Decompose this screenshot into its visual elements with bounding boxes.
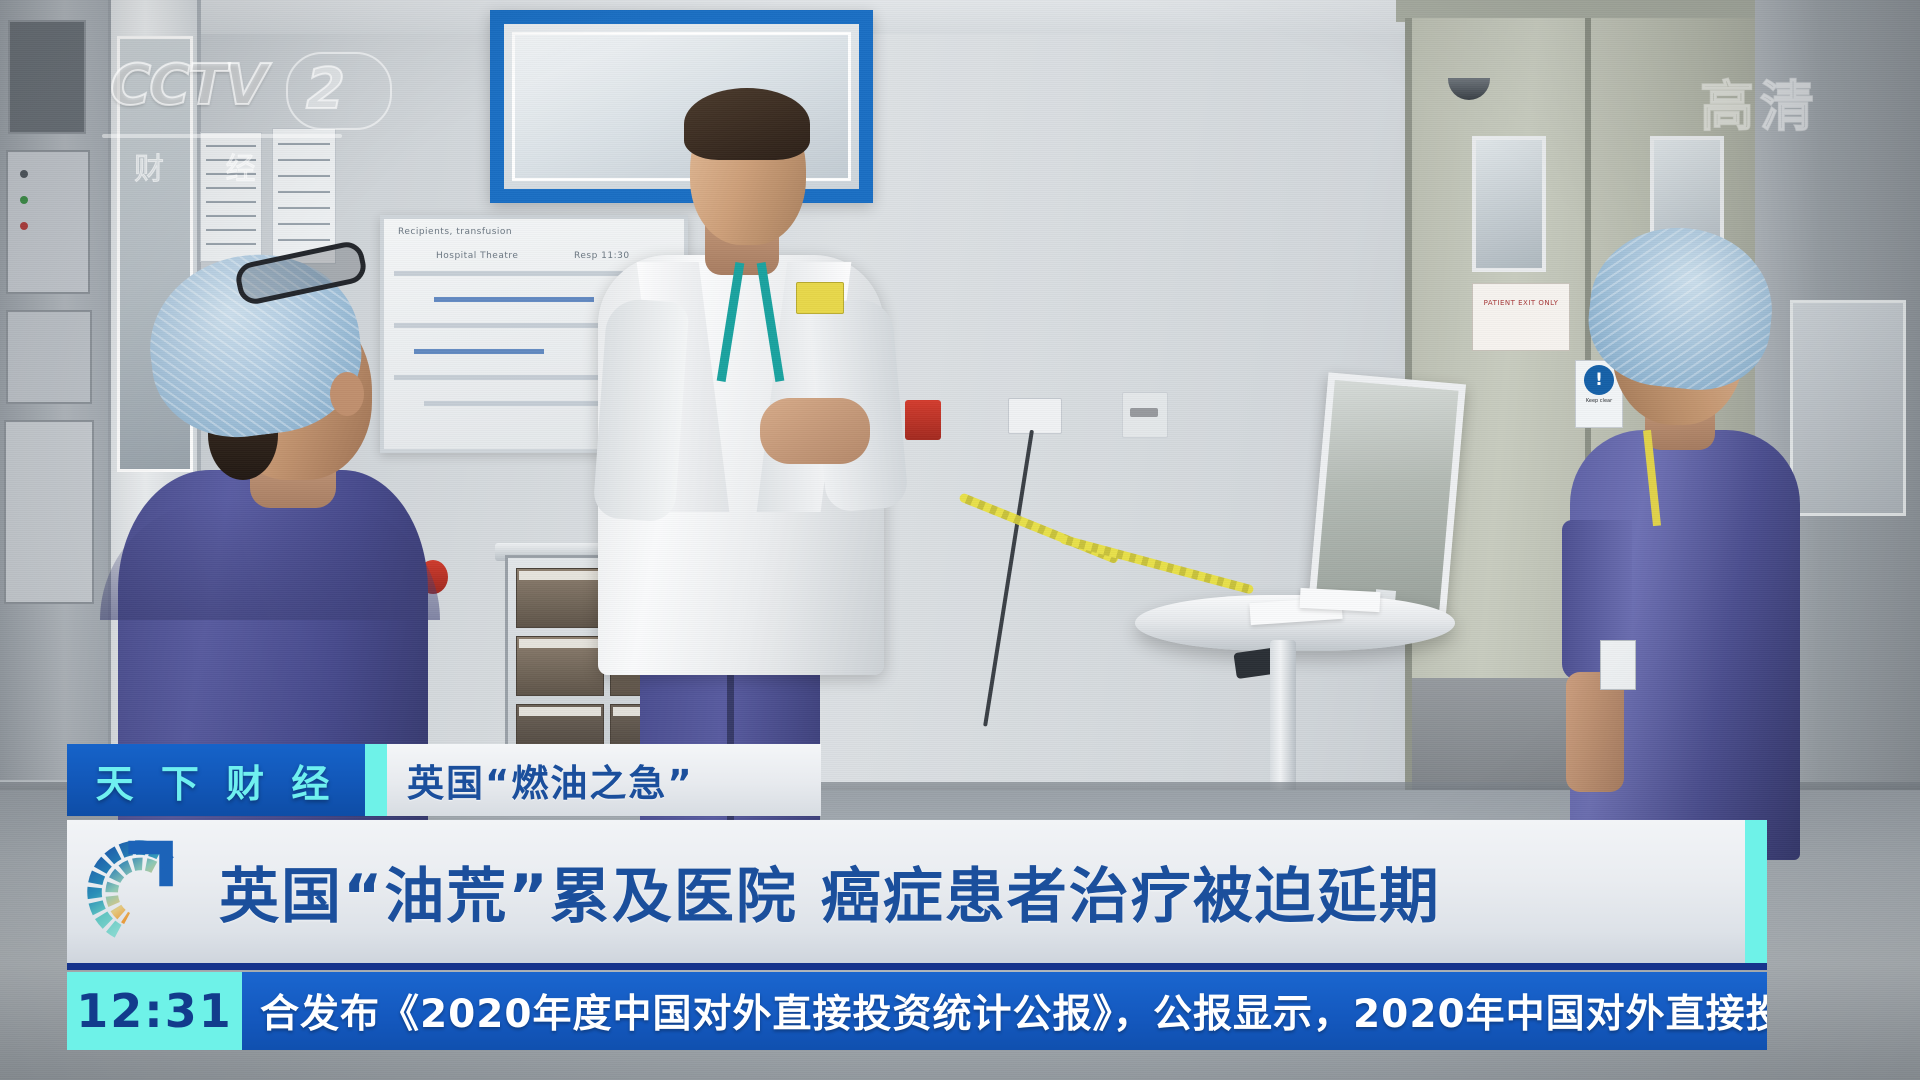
- cctv-finance-logo: [81, 834, 197, 950]
- panel-unit-mid: [6, 310, 92, 404]
- id-badge: [1600, 640, 1636, 690]
- wall-poster: [272, 128, 336, 264]
- clock-box: 12:31: [67, 972, 242, 1050]
- clock-time: 12:31: [76, 984, 232, 1038]
- wall-poster: [200, 132, 262, 262]
- program-name-label: 天 下 财 经: [96, 753, 337, 808]
- whiteboard-row-1: Hospital Theatre: [436, 251, 518, 261]
- broadcast-frame: Recipients, transfusion Hospital Theatre…: [0, 0, 1920, 1080]
- headline-text: 英国“油荒”累及医院 癌症患者治疗被迫延期: [219, 848, 1441, 935]
- headline-bar: 英国“油荒”累及医院 癌症患者治疗被迫延期: [67, 820, 1767, 970]
- panel-display: [8, 20, 86, 134]
- program-topic-row: 天 下 财 经 英国“燃油之急”: [67, 744, 1767, 816]
- tag-accent-strip: [365, 744, 387, 816]
- panel-unit-upper: [6, 150, 90, 294]
- id-badge: [796, 282, 844, 314]
- whiteboard-row-2: Resp 11:30: [574, 251, 630, 261]
- ticker-body: 合发布《2020年度中国对外直接投资统计公报》，公报显示，2020年中国对外直接…: [242, 972, 1767, 1050]
- patient-exit-sign: PATIENT EXIT ONLY: [1472, 283, 1570, 351]
- indicator-light: [20, 196, 28, 204]
- headline-accent-strip: [1745, 820, 1767, 963]
- monitor-screen: [1316, 380, 1459, 612]
- door-window-left: [1472, 136, 1546, 272]
- cart-bin: [516, 636, 604, 696]
- computer-monitor: [1308, 372, 1466, 619]
- emergency-call-point: [905, 400, 941, 440]
- ticker-text: 合发布《2020年度中国对外直接投资统计公报》，公报显示，2020年中国对外直接…: [242, 983, 1767, 1039]
- indicator-light: [20, 222, 28, 230]
- exclamation-icon: !: [1584, 365, 1614, 395]
- wall-window: [490, 10, 873, 203]
- lower-third-graphics: 天 下 财 经 英国“燃油之急”: [67, 744, 1767, 1050]
- wall-equipment-panel: [0, 0, 111, 780]
- indicator-light: [20, 170, 28, 178]
- topic-label: 英国“燃油之急”: [387, 753, 694, 807]
- panel-unit-lower: [4, 420, 94, 604]
- wall-data-plate: [1122, 392, 1168, 438]
- far-wall-panel: [1790, 300, 1906, 516]
- cart-bin: [516, 568, 604, 628]
- topic-panel: 英国“燃油之急”: [387, 744, 821, 816]
- program-name-tag: 天 下 财 经: [67, 744, 365, 816]
- paper-sheet: [1300, 588, 1381, 612]
- wall-socket: [1008, 398, 1062, 434]
- whiteboard-header: Recipients, transfusion: [398, 227, 512, 237]
- news-ticker: 12:31 合发布《2020年度中国对外直接投资统计公报》，公报显示，2020年…: [67, 972, 1767, 1050]
